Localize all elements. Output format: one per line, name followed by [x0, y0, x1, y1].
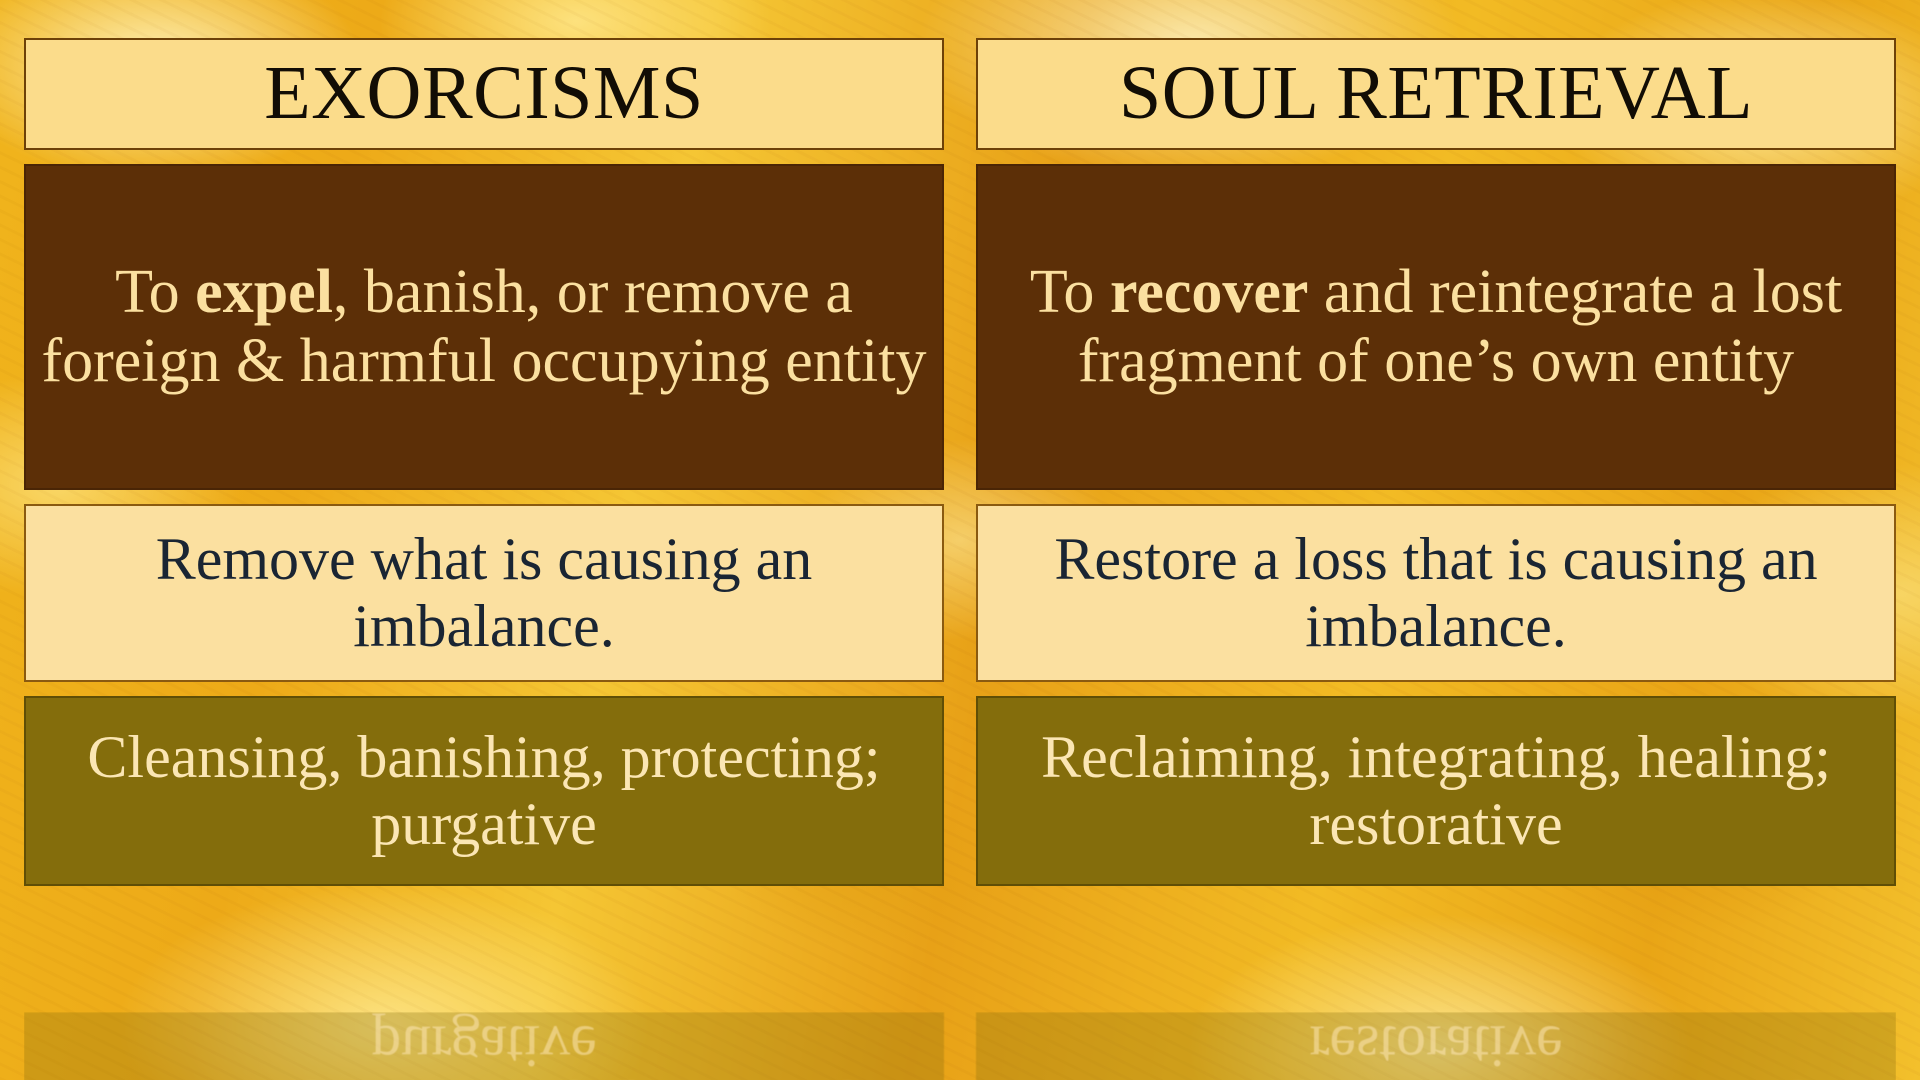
purpose-text-exorcisms: To expel, banish, or remove a foreign & … — [40, 258, 928, 397]
purpose-prefix-exorcisms: To — [115, 258, 195, 326]
action-text-soul-retrieval: Restore a loss that is causing an imbala… — [992, 526, 1880, 660]
purpose-prefix-soul-retrieval: To — [1030, 258, 1110, 326]
qualities-text-soul-retrieval: Reclaiming, integrating, healing; restor… — [992, 724, 1880, 858]
action-cell-exorcisms: Remove what is causing an imbalance. — [24, 504, 944, 682]
purpose-cell-exorcisms: To expel, banish, or remove a foreign & … — [24, 164, 944, 490]
column-header-soul-retrieval-label: SOUL RETRIEVAL — [1119, 51, 1753, 136]
purpose-keyword-exorcisms: expel — [195, 258, 333, 326]
column-header-exorcisms-label: EXORCISMS — [264, 51, 704, 136]
action-cell-soul-retrieval: Restore a loss that is causing an imbala… — [976, 504, 1896, 682]
qualities-cell-soul-retrieval: Reclaiming, integrating, healing; restor… — [976, 696, 1896, 886]
column-header-soul-retrieval: SOUL RETRIEVAL — [976, 38, 1896, 150]
purpose-keyword-soul-retrieval: recover — [1110, 258, 1308, 326]
action-text-exorcisms: Remove what is causing an imbalance. — [40, 526, 928, 660]
purpose-cell-soul-retrieval: To recover and reintegrate a lost fragme… — [976, 164, 1896, 490]
qualities-cell-exorcisms: Cleansing, banishing, protecting; purgat… — [24, 696, 944, 886]
qualities-text-exorcisms: Cleansing, banishing, protecting; purgat… — [40, 724, 928, 858]
column-header-exorcisms: EXORCISMS — [24, 38, 944, 150]
comparison-table: EXORCISMS SOUL RETRIEVAL To expel, banis… — [24, 38, 1896, 886]
purpose-text-soul-retrieval: To recover and reintegrate a lost fragme… — [992, 258, 1880, 397]
